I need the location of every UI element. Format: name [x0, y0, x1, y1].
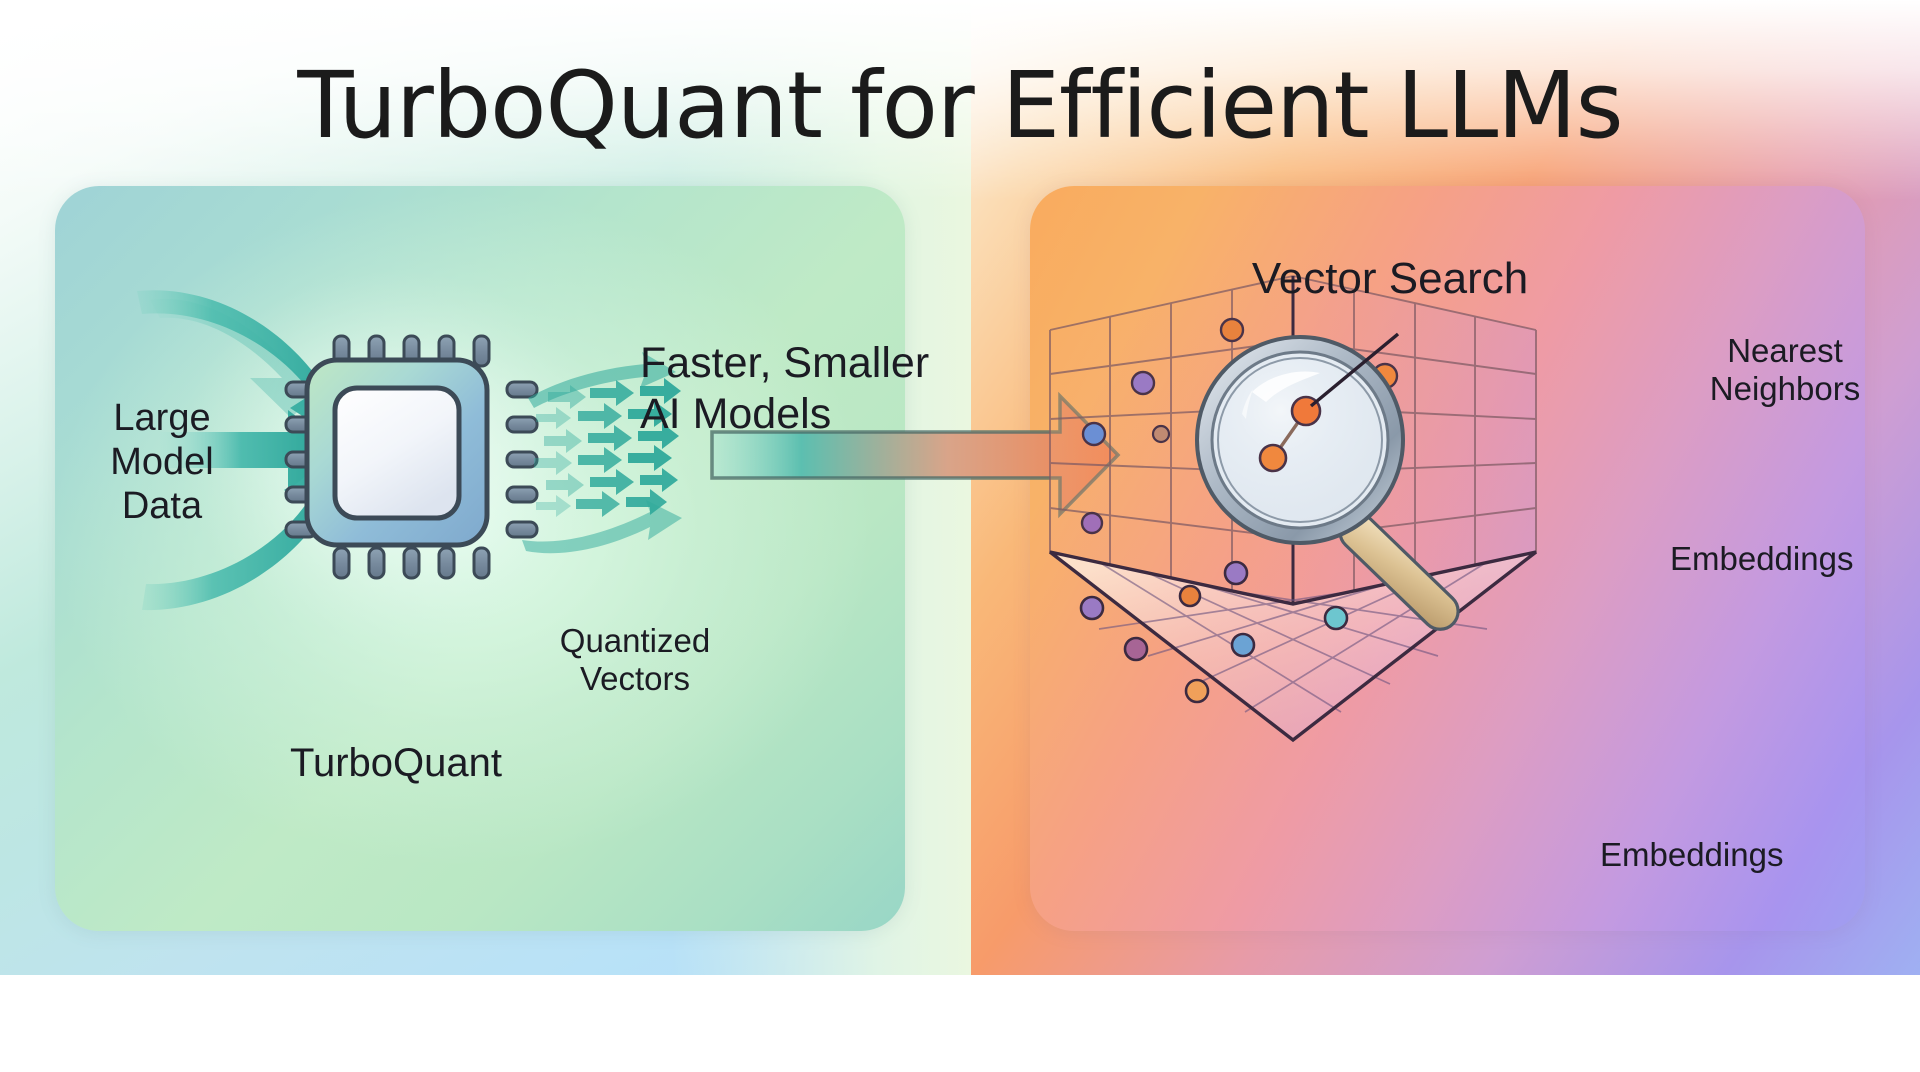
- quantization-panel-glow: [55, 186, 905, 931]
- tagline-line-2: AI Models: [640, 389, 980, 440]
- large-model-data-line-3: Data: [72, 484, 252, 528]
- large-model-data-label: Large Model Data: [72, 396, 252, 528]
- nearest-neighbors-label: Nearest Neighbors: [1650, 332, 1920, 408]
- quantized-vectors-label: Quantized Vectors: [520, 622, 750, 699]
- large-model-data-line-1: Large: [72, 396, 252, 440]
- nearest-neighbors-line-2: Neighbors: [1650, 370, 1920, 408]
- background-bottom-band: [0, 975, 1920, 1072]
- embeddings-label-bottom: Embeddings: [1600, 836, 1870, 874]
- embeddings-label-side: Embeddings: [1670, 540, 1920, 578]
- quantized-vectors-line-1: Quantized: [520, 622, 750, 660]
- quantized-vectors-line-2: Vectors: [520, 660, 750, 698]
- large-model-data-line-2: Model: [72, 440, 252, 484]
- nearest-neighbors-line-1: Nearest: [1650, 332, 1920, 370]
- page-title: TurboQuant for Efficient LLMs: [0, 52, 1920, 159]
- vector-search-title: Vector Search: [1200, 253, 1580, 304]
- turboquant-label: TurboQuant: [186, 740, 606, 786]
- infographic-canvas: TurboQuant for Efficient LLMs: [0, 0, 1920, 1072]
- tagline-line-1: Faster, Smaller: [640, 338, 980, 389]
- quantization-panel-card: [55, 186, 905, 931]
- tagline: Faster, Smaller AI Models: [640, 338, 980, 439]
